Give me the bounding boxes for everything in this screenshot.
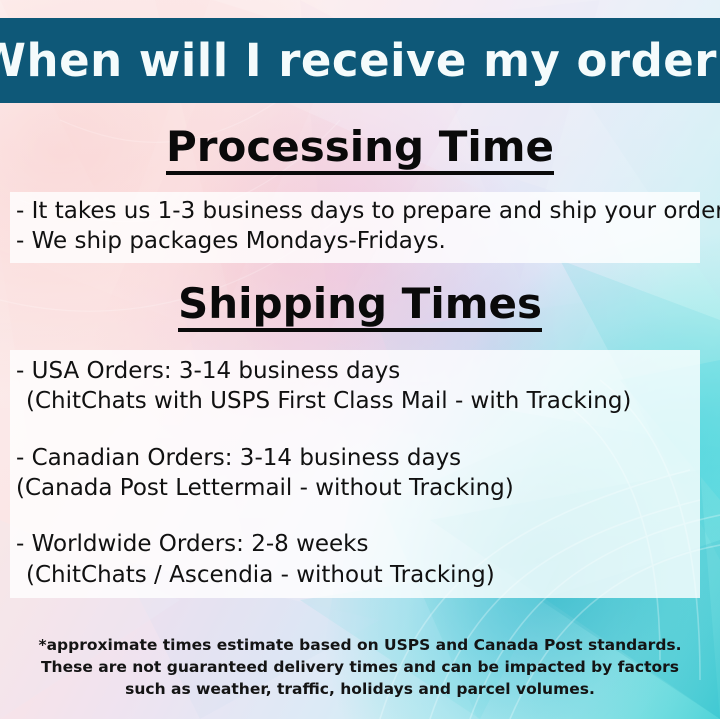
shipping-times-heading-text: Shipping Times [178,283,542,332]
processing-line-2: - We ship packages Mondays-Fridays. [10,226,700,256]
shipping-times-heading: Shipping Times [0,283,720,332]
shipping-canada-detail: (Canada Post Lettermail - without Tracki… [10,473,700,503]
footnote-line-3: such as weather, traffic, holidays and p… [0,678,720,700]
shipping-canada-title: - Canadian Orders: 3-14 business days [10,443,700,473]
shipping-block-worldwide: - Worldwide Orders: 2-8 weeks (ChitChats… [10,529,700,590]
disclaimer-footnote: *approximate times estimate based on USP… [0,634,720,700]
shipping-block-usa: - USA Orders: 3-14 business days (ChitCh… [10,356,700,417]
processing-time-panel: - It takes us 1-3 business days to prepa… [10,192,700,263]
shipping-worldwide-title: - Worldwide Orders: 2-8 weeks [10,529,700,559]
shipping-block-gap-2 [10,503,700,529]
poster-content: When will I receive my order? Processing… [0,0,720,719]
shipping-worldwide-detail: (ChitChats / Ascendia - without Tracking… [10,560,700,590]
page-title: When will I receive my order? [0,34,720,87]
title-banner: When will I receive my order? [0,18,720,103]
processing-time-heading: Processing Time [0,126,720,175]
processing-time-heading-text: Processing Time [166,126,554,175]
shipping-times-panel: - USA Orders: 3-14 business days (ChitCh… [10,350,700,598]
shipping-block-gap-1 [10,417,700,443]
shipping-info-poster: When will I receive my order? Processing… [0,0,720,719]
shipping-usa-title: - USA Orders: 3-14 business days [10,356,700,386]
processing-line-1: - It takes us 1-3 business days to prepa… [10,196,700,226]
shipping-block-canada: - Canadian Orders: 3-14 business days (C… [10,443,700,504]
footnote-line-2: These are not guaranteed delivery times … [0,656,720,678]
shipping-usa-detail: (ChitChats with USPS First Class Mail - … [10,386,700,416]
footnote-line-1: *approximate times estimate based on USP… [0,634,720,656]
